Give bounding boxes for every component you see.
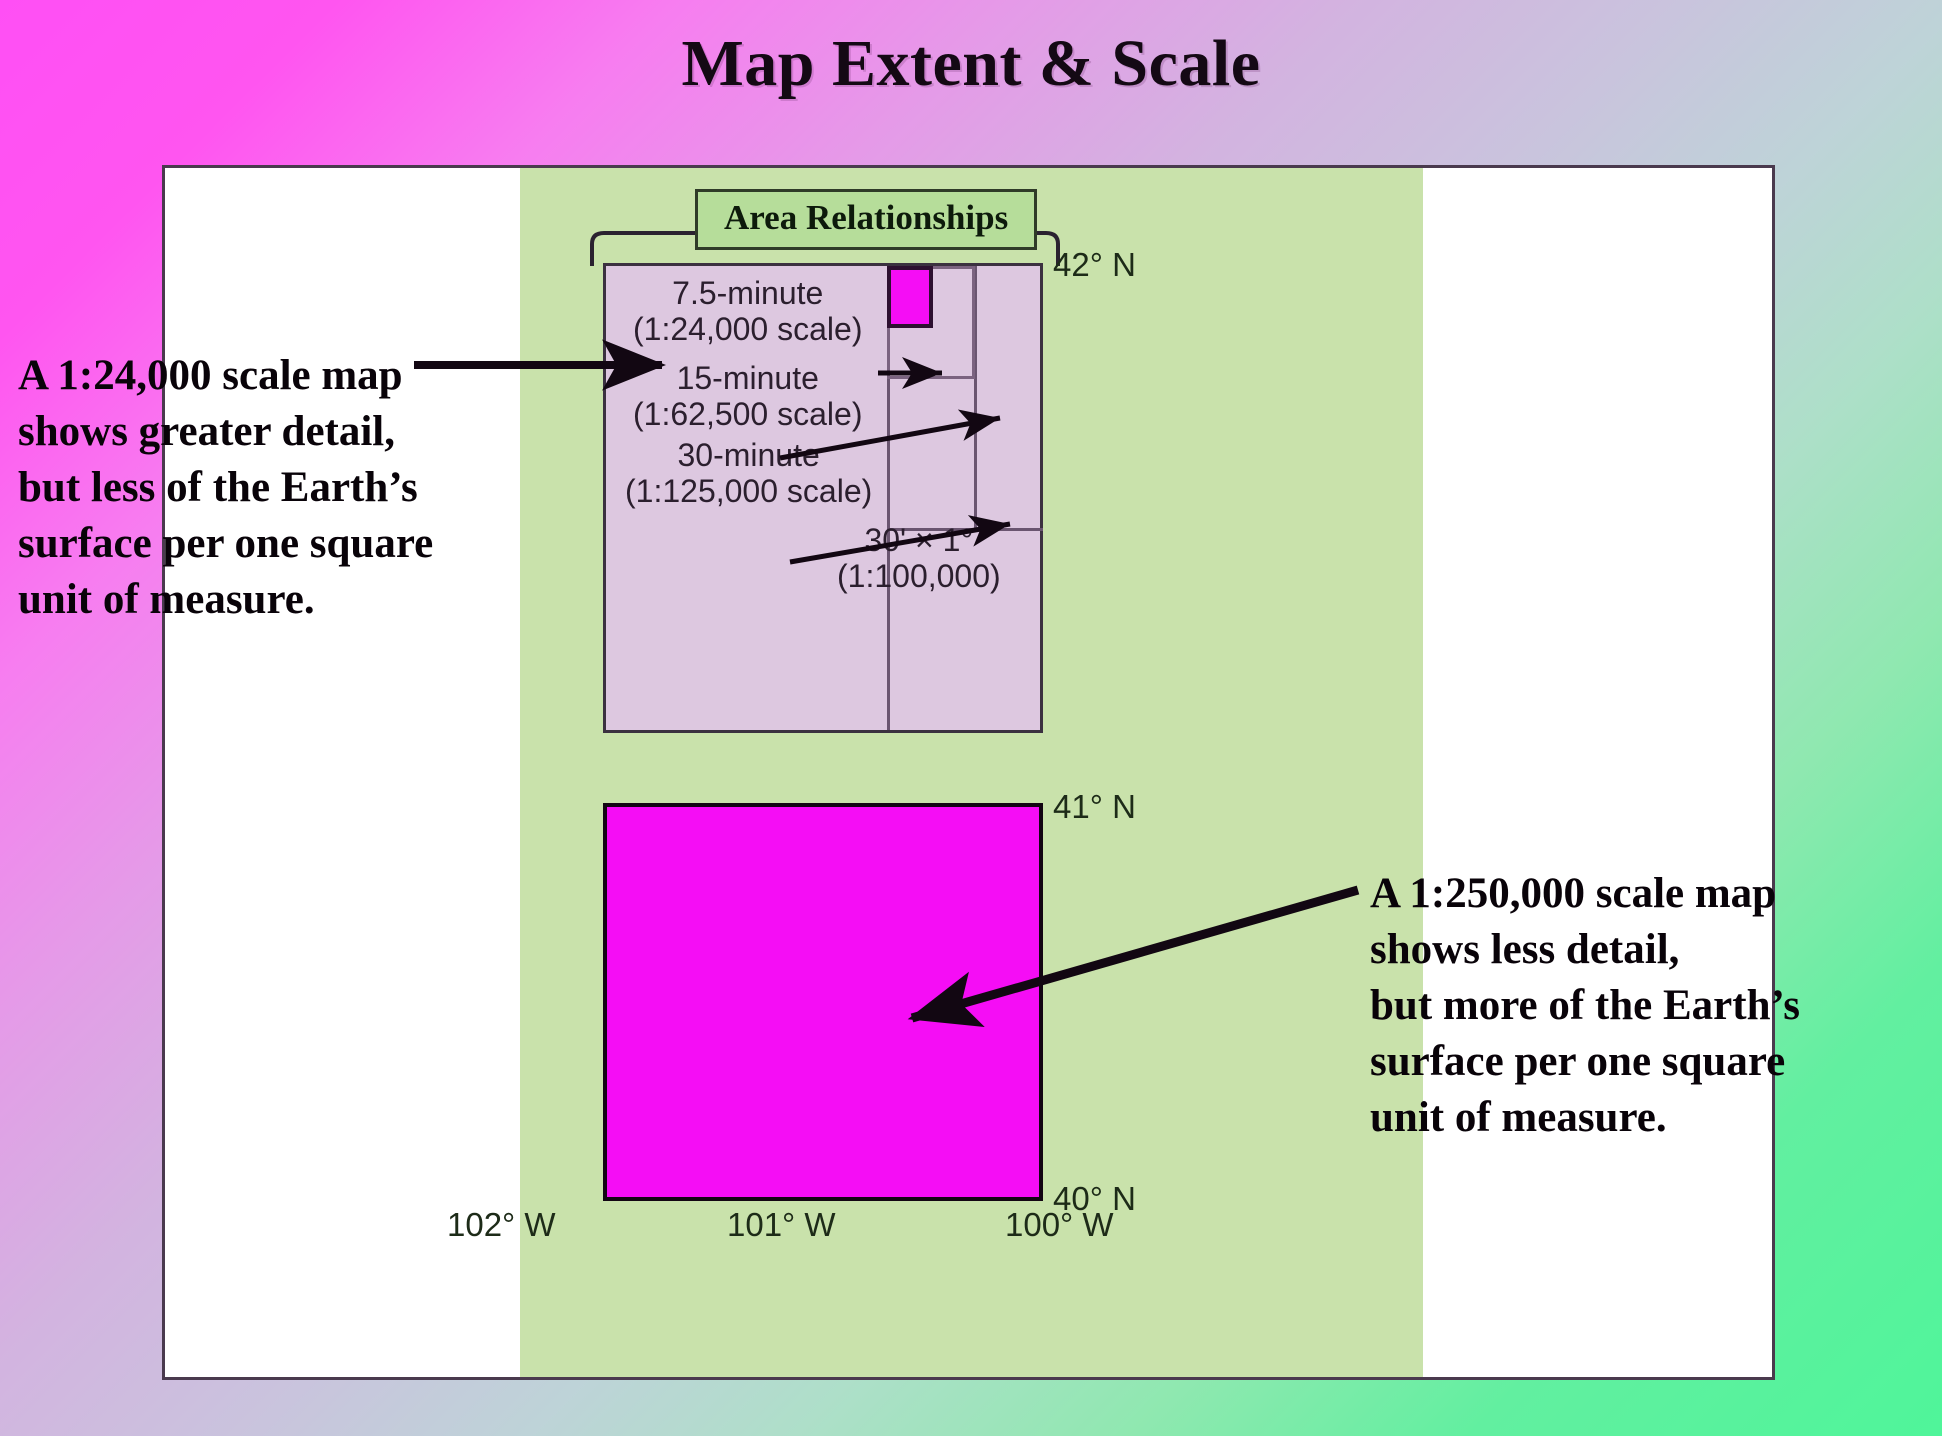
annotation-right-250k: A 1:250,000 scale map shows less detail,… (1370, 866, 1930, 1145)
quad-7-5-minute-box (887, 266, 933, 328)
quad-label-name: 30' × 1° (837, 523, 1001, 559)
longitude-label-100w: 100° W (1005, 1206, 1114, 1244)
slide-canvas: Map Extent & Scale Area Relationships 7.… (0, 0, 1942, 1436)
quad-label-name: 7.5-minute (633, 276, 862, 312)
quad-label-100k: 30' × 1° (1:100,000) (837, 523, 1001, 595)
page-title: Map Extent & Scale (0, 26, 1942, 102)
longitude-label-102w: 102° W (447, 1206, 556, 1244)
quad-label-scale: (1:62,500 scale) (633, 397, 862, 433)
lower-extent-block-250k (603, 803, 1043, 1201)
quad-label-7-5-minute: 7.5-minute (1:24,000 scale) (633, 276, 862, 348)
latitude-label-41n: 41° N (1053, 788, 1136, 826)
quad-label-15-minute: 15-minute (1:62,500 scale) (633, 361, 862, 433)
area-relationships-caption: Area Relationships (695, 189, 1037, 250)
quad-label-30-minute: 30-minute (1:125,000 scale) (625, 438, 872, 510)
longitude-label-101w: 101° W (727, 1206, 836, 1244)
quad-label-name: 30-minute (625, 438, 872, 474)
quad-label-scale: (1:24,000 scale) (633, 312, 862, 348)
annotation-left-24k: A 1:24,000 scale map shows greater detai… (18, 348, 578, 627)
latitude-label-42n: 42° N (1053, 246, 1136, 284)
quad-label-scale: (1:100,000) (837, 559, 1001, 595)
quad-label-scale: (1:125,000 scale) (625, 474, 872, 510)
quad-label-name: 15-minute (633, 361, 862, 397)
